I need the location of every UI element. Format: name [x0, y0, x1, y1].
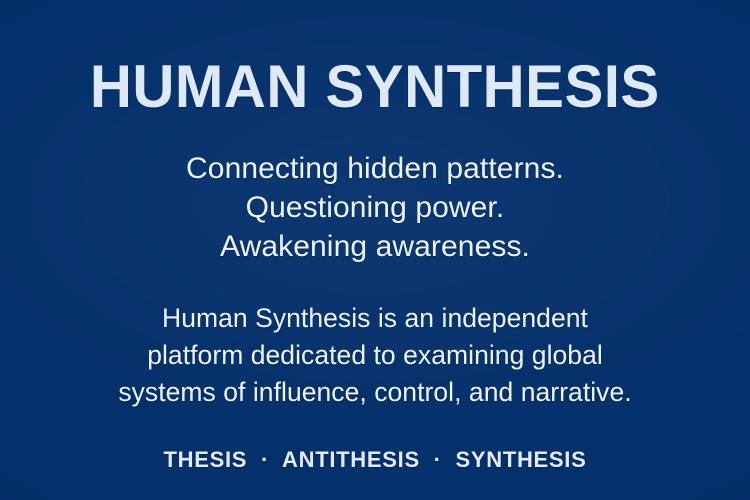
description-line-3: systems of influence, control, and narra… — [75, 374, 675, 411]
motto-line: THESIS · ANTITHESIS · SYNTHESIS — [164, 447, 587, 473]
banner-content: HUMAN SYNTHESIS Connecting hidden patter… — [0, 0, 750, 473]
tagline-line-2: Questioning power. — [186, 188, 564, 227]
description-paragraph: Human Synthesis is an independent platfo… — [75, 300, 675, 411]
brand-banner: HUMAN SYNTHESIS Connecting hidden patter… — [0, 0, 750, 500]
page-title: HUMAN SYNTHESIS — [90, 57, 660, 117]
motto-item-antithesis: ANTITHESIS — [282, 447, 420, 472]
tagline-line-3: Awakening awareness. — [186, 227, 564, 266]
motto-separator-1: · — [254, 447, 276, 472]
tagline-line-1: Connecting hidden patterns. — [186, 149, 564, 188]
motto-item-thesis: THESIS — [164, 447, 248, 472]
description-line-1: Human Synthesis is an independent — [75, 300, 675, 337]
description-line-2: platform dedicated to examining global — [75, 337, 675, 374]
motto-item-synthesis: SYNTHESIS — [455, 447, 586, 472]
motto-separator-2: · — [427, 447, 449, 472]
tagline-block: Connecting hidden patterns. Questioning … — [186, 149, 564, 266]
